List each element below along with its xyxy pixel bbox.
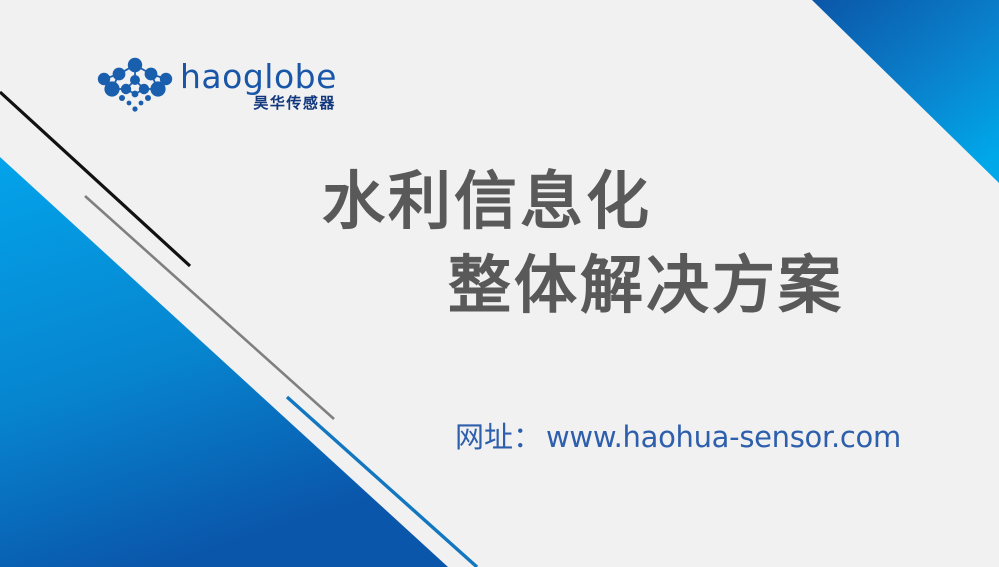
company-logo: haoglobe 昊华传感器 [96,56,326,122]
logo-wordmark: haoglobe [180,60,337,94]
title-line-1: 水利信息化 [0,160,999,244]
logo-subtitle: 昊华传感器 [253,95,336,112]
website-line: 网址： www.haohua-sensor.com [455,420,901,454]
slide-title: 水利信息化 整体解决方案 [0,160,999,328]
top-right-triangle [812,0,999,183]
title-line-2: 整体解决方案 [0,244,999,328]
network-nodes-icon [96,56,174,114]
website-url[interactable]: www.haohua-sensor.com [546,420,901,454]
blue-accent-line [287,397,477,567]
logo-text: haoglobe 昊华传感器 [180,56,337,112]
title-slide: haoglobe 昊华传感器 水利信息化 整体解决方案 网址： www.haoh… [0,0,999,567]
website-label: 网址： [455,420,542,454]
